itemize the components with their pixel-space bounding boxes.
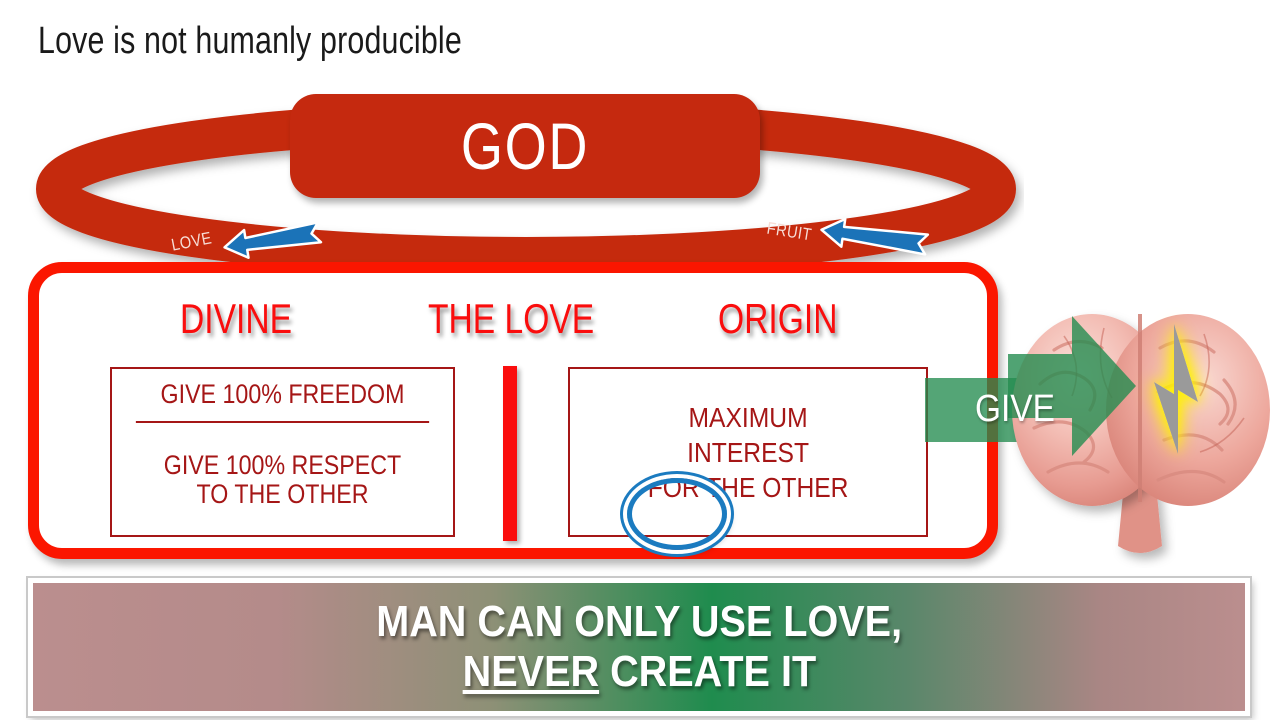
arrow-left-icon	[216, 220, 326, 260]
heading-the-love: THE LOVE	[428, 298, 594, 340]
bottom-banner: MAN CAN ONLY USE LOVE, NEVER CREATE IT	[28, 578, 1250, 716]
attribute-row-respect: GIVE 100% RESPECT TO THE OTHER	[136, 423, 429, 537]
divine-attributes-box: GIVE 100% FREEDOM GIVE 100% RESPECT TO T…	[110, 367, 455, 537]
highlight-ellipse-icon	[627, 478, 727, 550]
god-box: GOD	[290, 94, 760, 198]
banner-underlined-word: NEVER	[462, 647, 598, 696]
give-label: GIVE	[975, 390, 1055, 428]
banner-line-1: MAN CAN ONLY USE LOVE,	[376, 598, 902, 646]
god-label: GOD	[332, 94, 717, 198]
banner-line-2-rest: CREATE IT	[599, 647, 816, 696]
heading-divine: DIVINE	[180, 298, 292, 340]
divine-cycle-diagram: GOD LOVE WORD OF GOD FRUIT	[28, 92, 1024, 267]
origin-line-1: MAXIMUM	[648, 400, 849, 435]
origin-attributes-box: MAXIMUM INTEREST FOR THE OTHER	[568, 367, 928, 537]
attribute-respect-line2: TO THE OTHER	[164, 480, 401, 509]
page-title: Love is not humanly producible	[38, 22, 462, 60]
attribute-respect-line1: GIVE 100% RESPECT	[164, 451, 401, 480]
heading-origin: ORIGIN	[718, 298, 837, 340]
banner-line-2: NEVER CREATE IT	[462, 648, 816, 696]
arrow-left-icon	[813, 216, 933, 258]
slide-canvas: Love is not humanly producible GOD	[0, 0, 1280, 720]
origin-line-2: INTEREST	[648, 435, 849, 470]
vertical-divider	[503, 366, 517, 541]
attribute-row-freedom: GIVE 100% FREEDOM	[136, 369, 429, 423]
panel-headings: DIVINE THE LOVE ORIGIN	[28, 288, 998, 348]
